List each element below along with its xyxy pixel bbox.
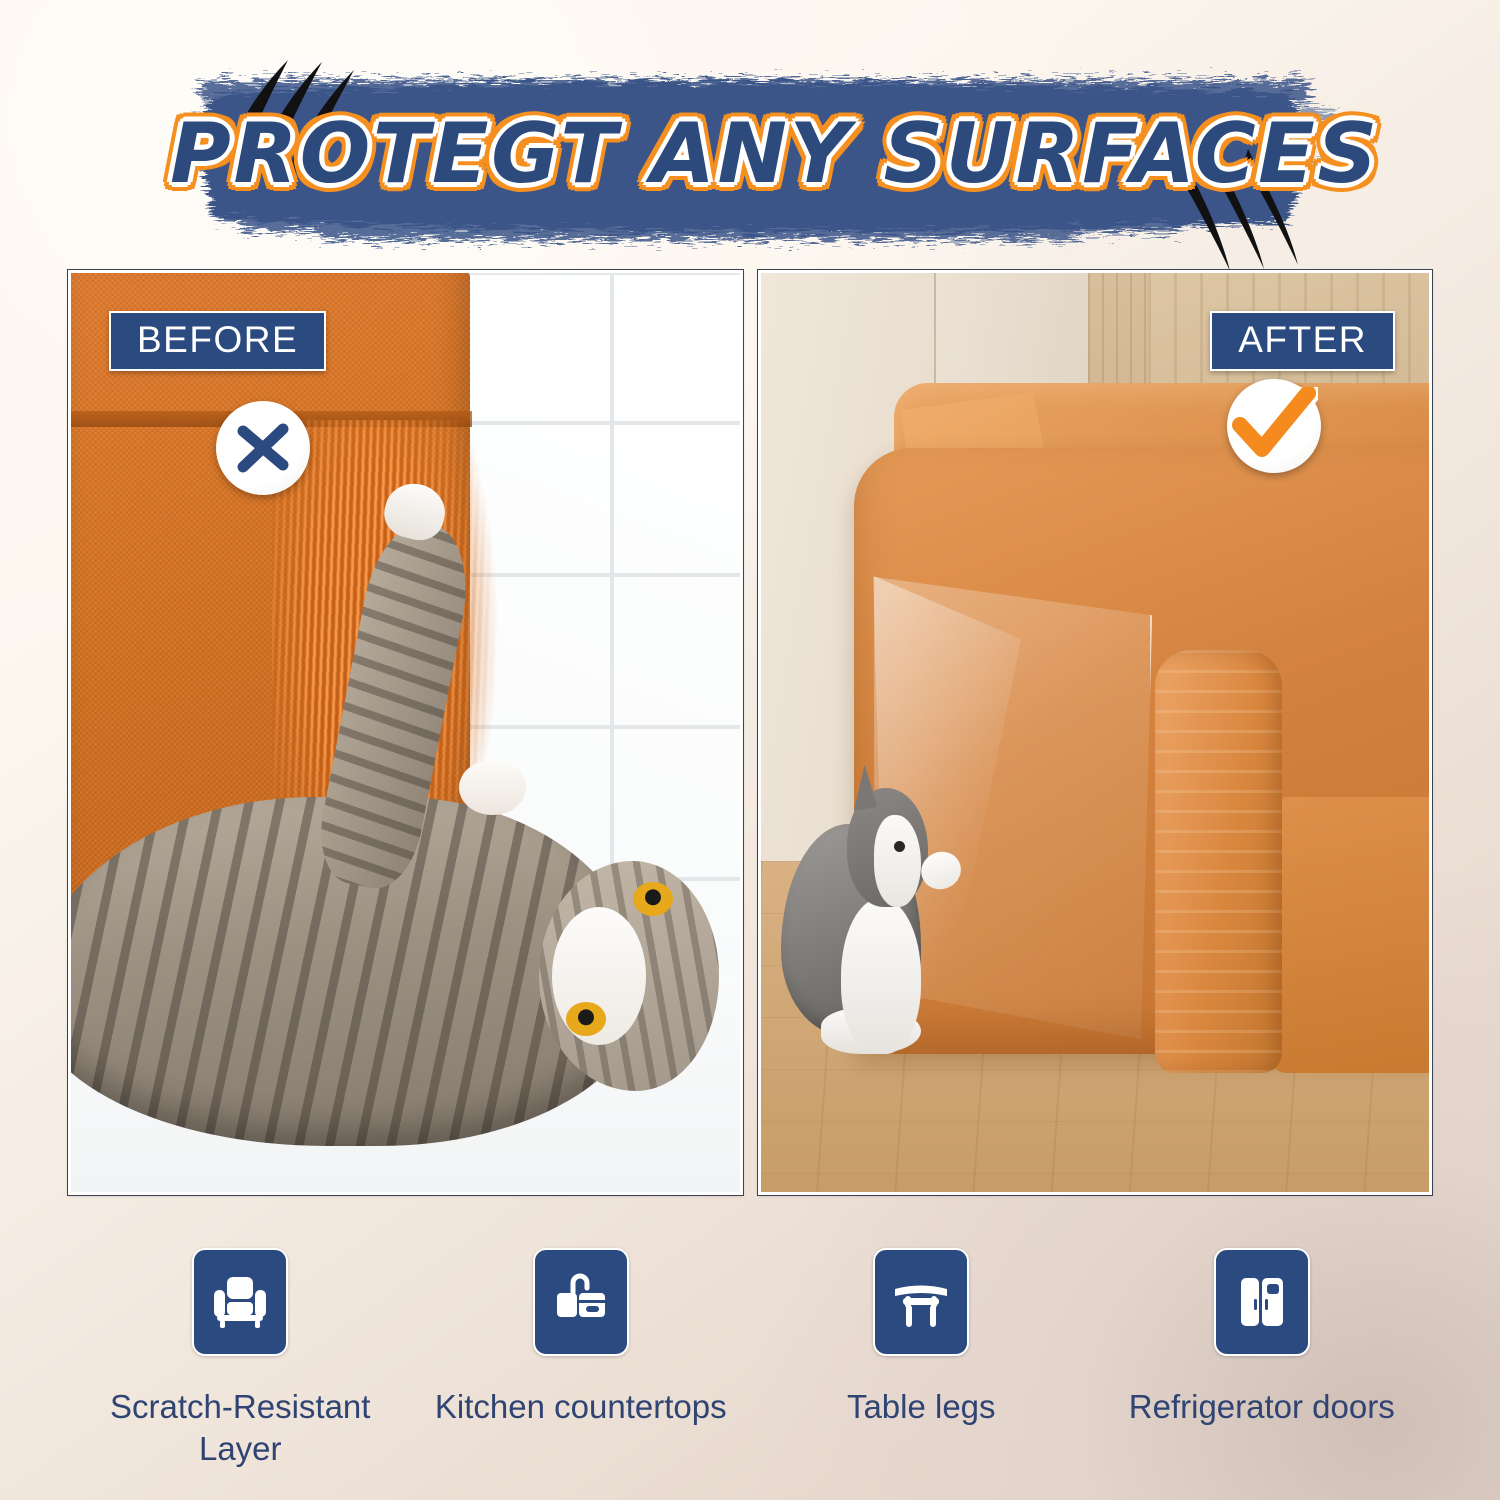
page-title: PROTEGT ANY SURFACES <box>170 112 1340 195</box>
header-banner: PROTEGT ANY SURFACES <box>170 62 1340 257</box>
kitchen-sink-icon <box>533 1248 629 1356</box>
feature-item-kitchen-countertops[interactable]: Kitchen countertops <box>411 1248 752 1470</box>
sofa-seat-cushion <box>1269 797 1432 1073</box>
product-infographic: PROTEGT ANY SURFACES BEFORE <box>0 0 1500 1500</box>
grey-cat-chest <box>841 898 921 1054</box>
sofa-armrest <box>1155 650 1282 1073</box>
feature-list: Scratch-Resistant Layer Kitchen countert… <box>70 1248 1432 1470</box>
armchair-glyph <box>209 1271 271 1333</box>
table-glyph <box>890 1271 952 1333</box>
feature-item-scratch-resistant-layer[interactable]: Scratch-Resistant Layer <box>70 1248 411 1470</box>
after-photo-panel[interactable]: AFTER <box>758 270 1433 1195</box>
after-scene <box>761 273 1430 1192</box>
table-icon <box>873 1248 969 1356</box>
refrigerator-glyph <box>1231 1271 1293 1333</box>
kitchen-sink-glyph <box>550 1271 612 1333</box>
check-mark-icon <box>1227 379 1321 473</box>
x-mark-icon <box>216 401 310 495</box>
tabby-cat-eye-left <box>633 882 673 916</box>
before-photo-panel[interactable]: BEFORE <box>68 270 743 1195</box>
after-badge: AFTER <box>1210 311 1395 371</box>
tabby-cat-eye-right <box>566 1002 606 1036</box>
armchair-icon <box>192 1248 288 1356</box>
before-after-comparison: BEFORE <box>68 270 1432 1195</box>
refrigerator-icon <box>1214 1248 1310 1356</box>
before-badge: BEFORE <box>109 311 326 371</box>
feature-label: Refrigerator doors <box>1129 1386 1395 1428</box>
before-scene <box>71 273 740 1192</box>
check-mark-glyph <box>1230 387 1318 465</box>
grey-cat-muzzle <box>874 815 921 907</box>
feature-label: Table legs <box>847 1386 996 1428</box>
x-mark-glyph <box>226 411 300 485</box>
feature-item-refrigerator-doors[interactable]: Refrigerator doors <box>1092 1248 1433 1470</box>
feature-label: Scratch-Resistant Layer <box>75 1386 405 1470</box>
tabby-cat-hind-paw <box>459 760 526 815</box>
feature-item-table-legs[interactable]: Table legs <box>751 1248 1092 1470</box>
feature-label: Kitchen countertops <box>435 1386 727 1428</box>
